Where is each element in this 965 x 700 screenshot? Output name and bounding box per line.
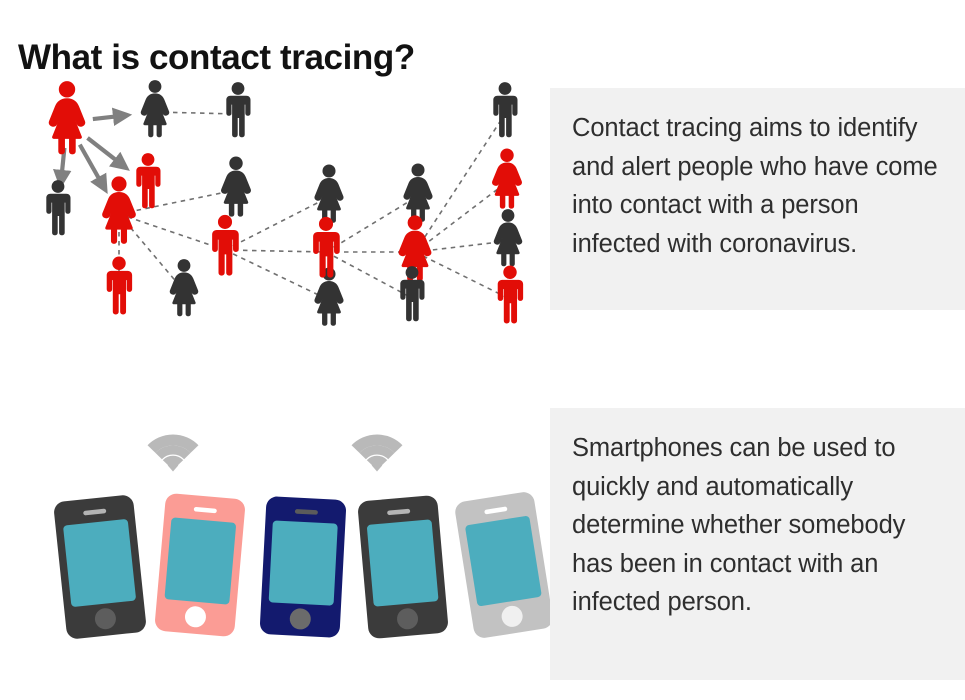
phone-screen[interactable] bbox=[367, 519, 439, 606]
person-figure-contact-man-top-right bbox=[226, 82, 250, 137]
person-figure-infected-woman-far-right bbox=[492, 149, 522, 209]
contact-link-lines bbox=[119, 112, 510, 300]
person-figure-infected-man-upper bbox=[136, 153, 160, 208]
person-figure-contact-woman-upper-mid bbox=[314, 164, 343, 222]
phone-screen[interactable] bbox=[63, 519, 136, 607]
contact-link-line bbox=[119, 190, 236, 214]
wifi-arc-2 bbox=[363, 450, 392, 456]
person-figure-contact-woman-far-right bbox=[494, 209, 523, 266]
contact-link-line bbox=[225, 250, 329, 300]
phone-pink[interactable] bbox=[154, 493, 246, 637]
wifi-signal-over-dark-grey-phone bbox=[355, 440, 398, 472]
contact-link-line bbox=[225, 250, 326, 252]
phone-screen[interactable] bbox=[465, 515, 542, 606]
panel-phones-text: Smartphones can be used to quickly and a… bbox=[572, 429, 943, 622]
smartphones-illustration bbox=[0, 410, 550, 675]
wifi-arc-2 bbox=[159, 450, 188, 456]
network-svg bbox=[0, 72, 550, 330]
panel-smartphone-explanation: Smartphones can be used to quickly and a… bbox=[550, 408, 965, 680]
person-figure-contact-woman-middle bbox=[221, 157, 251, 217]
contact-link-line bbox=[415, 114, 505, 252]
wifi-signals bbox=[151, 440, 398, 472]
phone-dark-grey-right[interactable] bbox=[357, 495, 449, 639]
phones-svg bbox=[0, 410, 550, 675]
wifi-dot bbox=[372, 460, 382, 471]
panel-tracing-text: Contact tracing aims to identify and ale… bbox=[572, 109, 943, 263]
arrow-index-to-contact-woman bbox=[93, 115, 127, 119]
contact-link-line bbox=[119, 214, 225, 250]
person-figure-infected-man-lower-left bbox=[107, 257, 132, 315]
phone-dark-grey-left[interactable] bbox=[53, 494, 147, 640]
person-figure-infected-man-center bbox=[212, 215, 239, 276]
person-figure-contact-woman-top bbox=[141, 80, 170, 137]
phone-screen[interactable] bbox=[269, 520, 338, 605]
person-figure-contact-man-left-lower bbox=[46, 180, 70, 235]
wifi-signal-over-pink-phone bbox=[151, 440, 194, 472]
contact-link-line bbox=[415, 252, 510, 299]
phone-screen[interactable] bbox=[164, 517, 236, 604]
phones bbox=[53, 491, 550, 640]
phone-navy-blue[interactable] bbox=[259, 496, 346, 638]
arrow-index-to-infected-man bbox=[88, 138, 126, 168]
person-figure-contact-woman-lower-left bbox=[170, 259, 199, 316]
contact-tracing-network-diagram bbox=[0, 72, 550, 330]
person-figure-contact-woman-upper-right bbox=[403, 163, 432, 221]
person-figure-contact-man-far-right bbox=[493, 82, 517, 137]
person-figure-infected-man-far-right bbox=[498, 266, 523, 324]
person-figure-index-case-infected-woman bbox=[49, 81, 86, 154]
phone-light-grey[interactable] bbox=[454, 491, 550, 640]
panel-contact-tracing-definition: Contact tracing aims to identify and ale… bbox=[550, 88, 965, 310]
wifi-dot bbox=[168, 460, 178, 471]
